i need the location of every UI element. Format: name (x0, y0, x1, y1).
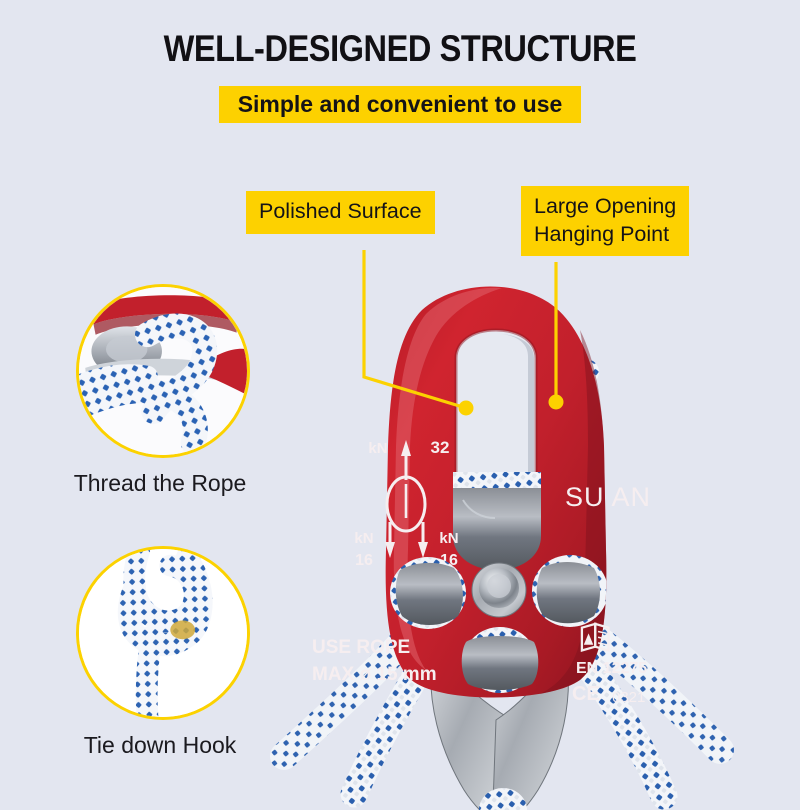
top-sheave-wheel (453, 488, 541, 570)
subtitle-container: Simple and convenient to use (0, 86, 800, 123)
load-left-unit: kN (354, 530, 373, 547)
standard-code: EN 12275 (576, 660, 647, 677)
inset-caption-tie-down-hook: Tie down Hook (30, 732, 290, 759)
load-left-value: 16 (355, 552, 373, 569)
callout-large-opening-hanging-point: Large Opening Hanging Point (521, 186, 689, 256)
knot-hardware-glint (170, 621, 195, 640)
top-sheave-assembly (453, 472, 541, 570)
rope-spec-line-2: MAX ø 15 mm (312, 664, 437, 685)
ce-mark: CE (572, 683, 600, 705)
subtitle-banner: Simple and convenient to use (219, 86, 582, 123)
load-top-value: 32 (431, 438, 450, 457)
brand-engraving: SU AN (565, 482, 651, 512)
knot-tail-standing (147, 636, 152, 717)
cutout-right-sheave (537, 562, 600, 623)
inset-rope-strand-3 (79, 375, 147, 387)
inset-thread-the-rope (76, 284, 250, 458)
load-top-unit: kN (368, 440, 387, 457)
infographic-canvas: WELL-DESIGNED STRUCTURE Simple and conve… (0, 0, 800, 800)
rope-over-top-sheave (453, 472, 541, 488)
page-title: WELL-DESIGNED STRUCTURE (48, 28, 752, 70)
load-right-unit: kN (439, 530, 458, 547)
inset-caption-thread-the-rope: Thread the Rope (30, 470, 290, 497)
callout-polished-surface: Polished Surface (246, 191, 435, 234)
inset-tie-down-hook (76, 546, 250, 720)
rope-spec-line-1: USE ROPE (312, 637, 410, 658)
ce-notified-body-number: 0321 (612, 689, 645, 706)
axle-rivet (472, 563, 526, 617)
cutout-left-sheave (396, 563, 463, 625)
product-image-pulley: kN 32 kN 16 kN 16 SU AN (250, 250, 800, 810)
cutout-bottom-sheave (462, 636, 539, 690)
